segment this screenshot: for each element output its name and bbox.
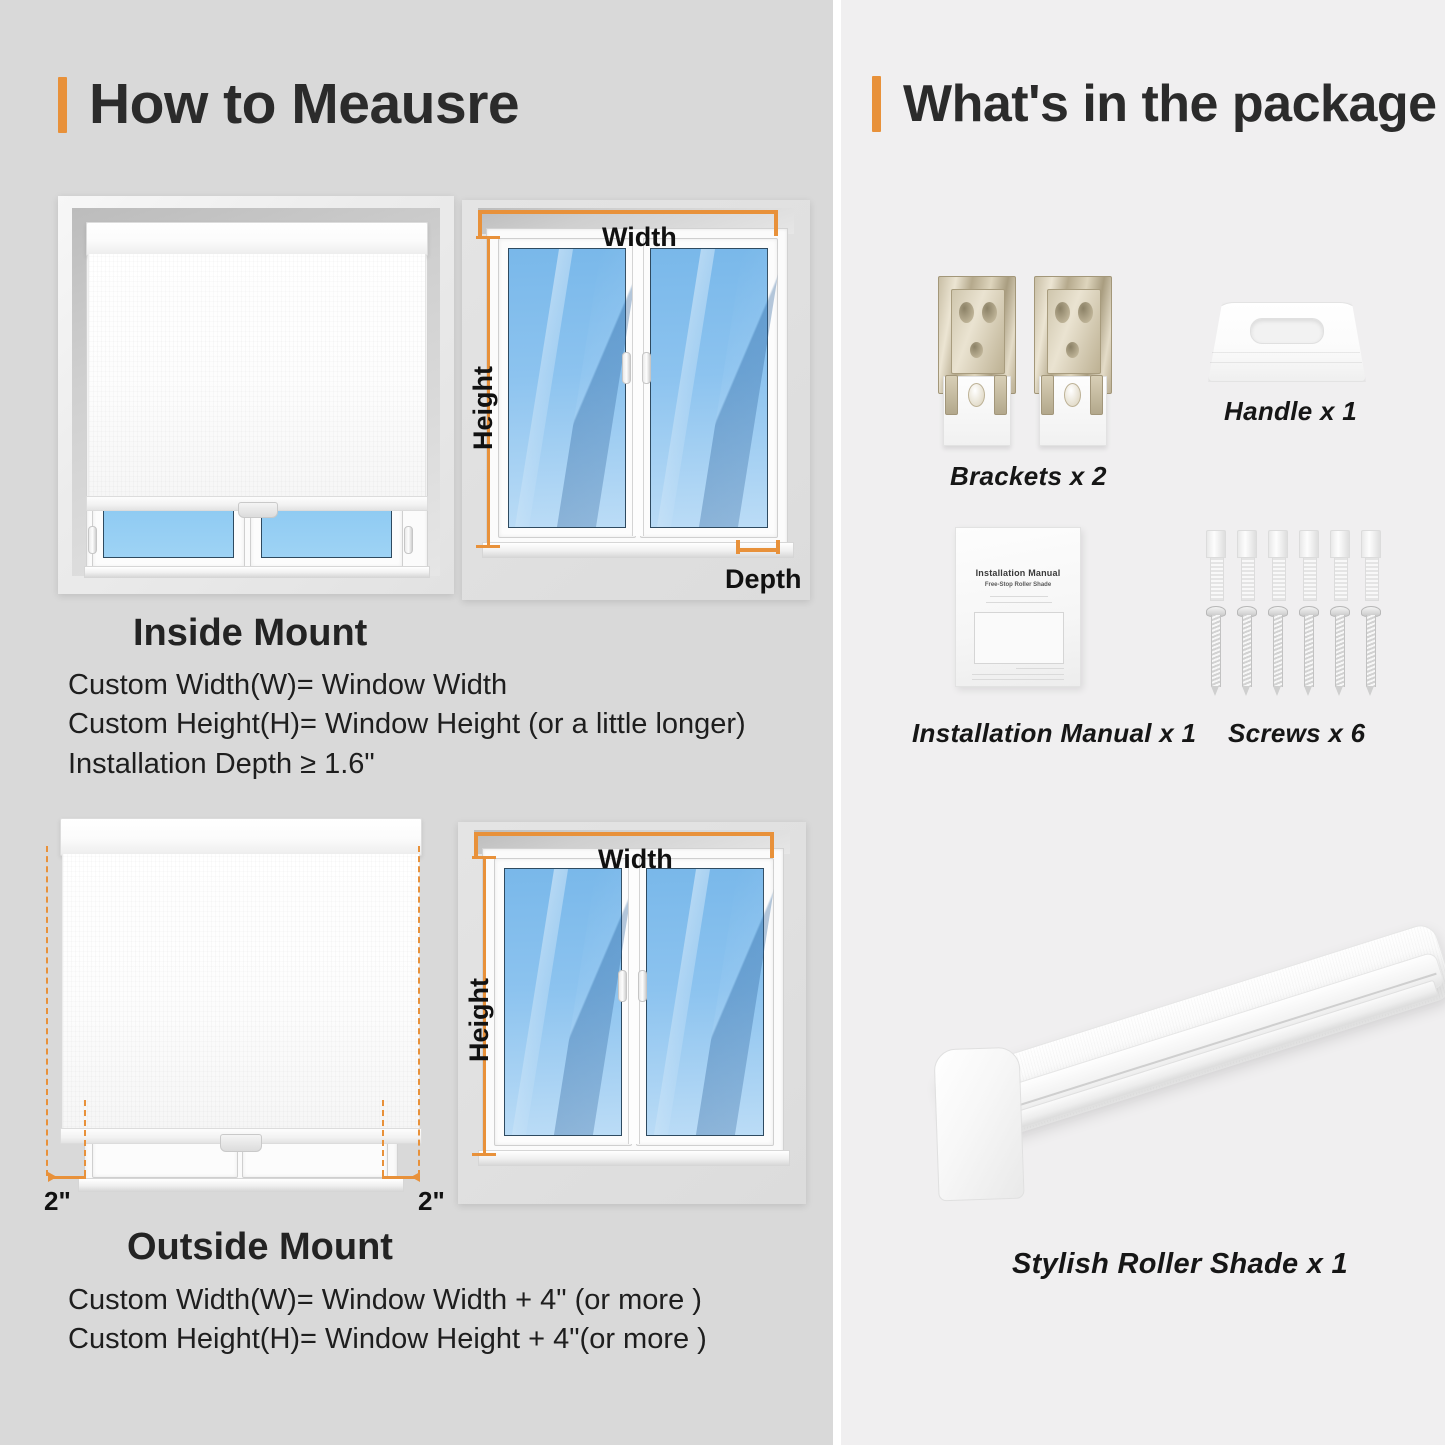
om-shade-fabric xyxy=(62,854,420,1132)
brackets-label: Brackets x 2 xyxy=(950,461,1107,492)
om-width-dimension-line xyxy=(474,832,774,836)
diagram-sash-left xyxy=(498,238,636,538)
inside-mount-spec-line: Installation Depth ≥ 1.6" xyxy=(68,747,746,782)
om-shade-valance xyxy=(60,818,422,856)
page-title-whats-in-package: What's in the package xyxy=(872,76,1437,132)
bracket-inner-plate xyxy=(1047,289,1101,374)
screw-tip xyxy=(1242,686,1250,696)
inside-mount-spec-line: Custom Height(H)= Window Height (or a li… xyxy=(68,707,746,742)
bracket-slot-left xyxy=(1041,375,1054,415)
screw-tip xyxy=(1211,686,1219,696)
overhang-arrow-right xyxy=(411,1172,420,1182)
diagram-sash-right xyxy=(640,238,778,538)
width-dimension-tick-left xyxy=(478,210,482,236)
screw-shaft xyxy=(1242,615,1252,687)
shade-valance xyxy=(86,222,428,256)
glass-reflection-icon xyxy=(696,869,778,1135)
manual-divider-line xyxy=(986,602,1052,603)
overhang-dash-left-outer xyxy=(46,846,48,1176)
manual-footer-line xyxy=(972,679,1064,680)
manual-footer-line xyxy=(972,674,1064,675)
om-diagram-mullion xyxy=(628,858,640,1144)
om-diagram-sill xyxy=(478,1150,790,1166)
glass-reflection-icon xyxy=(557,249,640,527)
manual-footer-line xyxy=(1016,668,1064,669)
overhang-dash-right-inner xyxy=(382,1100,384,1176)
bracket-hole-icon xyxy=(1078,302,1093,323)
screw-icon xyxy=(1361,606,1379,698)
window-handle-left-icon xyxy=(88,526,97,554)
om-diagram-sash-right xyxy=(636,858,774,1146)
depth-dimension-tick-a xyxy=(736,540,740,554)
om-diagram-glass-right xyxy=(646,868,764,1136)
bracket-hole-icon xyxy=(1055,302,1070,323)
window-sill xyxy=(84,566,430,578)
manual-divider-line xyxy=(990,596,1048,597)
overhang-dash-right-outer xyxy=(418,846,420,1176)
bracket-item-2-image xyxy=(1034,276,1110,446)
outside-mount-spec-list: Custom Width(W)= Window Width + 4" (or m… xyxy=(68,1283,707,1362)
inside-mount-shade-illustration xyxy=(58,196,454,594)
om-window-sill xyxy=(78,1178,404,1192)
screw-shaft xyxy=(1335,615,1345,687)
height-dimension-tick-top xyxy=(476,236,500,239)
bracket-inner-plate xyxy=(951,289,1005,374)
screw-icon xyxy=(1330,606,1348,698)
om-diagram-glass-left xyxy=(504,868,622,1136)
window-glass-left xyxy=(103,505,234,558)
wall-anchor-shaft xyxy=(1365,557,1379,601)
screw-tip xyxy=(1273,686,1281,696)
panel-divider xyxy=(833,0,841,1445)
depth-dimension-tick-b xyxy=(776,540,780,554)
bracket-hole-icon xyxy=(982,302,997,323)
shade-pull-handle xyxy=(238,502,278,518)
label-depth: Depth xyxy=(725,564,802,595)
bracket-slot-left xyxy=(945,375,958,415)
screw-tip xyxy=(1335,686,1343,696)
roller-shade-image xyxy=(900,880,1440,1220)
diagram-glass-left xyxy=(508,248,626,528)
outside-mount-spec-line: Custom Height(H)= Window Height + 4"(or … xyxy=(68,1322,707,1357)
label-height: Height xyxy=(468,366,499,450)
width-dimension-tick-right xyxy=(774,210,778,236)
width-dimension-line xyxy=(478,210,778,214)
overhang-arrow-left xyxy=(48,1172,57,1182)
accent-bar-icon xyxy=(58,77,67,133)
outside-mount-title: Outside Mount xyxy=(127,1226,393,1269)
wall-anchor-shaft xyxy=(1210,557,1224,601)
handle-ridge-line xyxy=(1210,362,1362,363)
bracket-item-1-image xyxy=(938,276,1014,446)
om-diagram-sash-left xyxy=(494,858,632,1146)
om-shade-pull-handle xyxy=(220,1134,262,1152)
diagram-handle-right-icon xyxy=(642,352,651,384)
screw-icon xyxy=(1237,606,1255,698)
handle-ridge-line xyxy=(1212,352,1360,353)
screw-tip xyxy=(1366,686,1374,696)
window-handle-right-icon xyxy=(404,526,413,554)
screw-icon xyxy=(1299,606,1317,698)
screw-tip xyxy=(1304,686,1312,696)
window-glass-right xyxy=(261,505,392,558)
screw-shaft xyxy=(1366,615,1376,687)
screws-label: Screws x 6 xyxy=(1228,718,1365,749)
bracket-hole-icon xyxy=(1066,342,1079,358)
wall-anchor-icon xyxy=(1299,530,1319,558)
bracket-slot-right xyxy=(1090,375,1103,415)
screw-icon xyxy=(1268,606,1286,698)
wall-anchor-icon xyxy=(1237,530,1257,558)
manual-cover-figure xyxy=(974,612,1064,664)
wall-anchor-icon xyxy=(1361,530,1381,558)
om-label-width: Width xyxy=(598,844,673,875)
om-width-dimension-tick-right xyxy=(770,832,774,858)
overhang-dash-left-inner xyxy=(84,1100,86,1176)
inside-mount-title: Inside Mount xyxy=(133,612,367,655)
om-width-dimension-tick-left xyxy=(474,832,478,858)
shade-fabric xyxy=(88,254,426,502)
wall-anchor-icon xyxy=(1330,530,1350,558)
label-width: Width xyxy=(602,222,677,253)
wall-anchor-shaft xyxy=(1241,557,1255,601)
heading-left-text: How to Meausre xyxy=(89,76,519,133)
om-label-height: Height xyxy=(464,978,495,1062)
heading-right-text: What's in the package xyxy=(903,78,1437,130)
screw-shaft xyxy=(1304,615,1314,687)
infographic-page: How to Meausre xyxy=(0,0,1445,1445)
page-title-how-to-measure: How to Meausre xyxy=(58,76,519,133)
wall-anchor-shaft xyxy=(1303,557,1317,601)
screw-shaft xyxy=(1211,615,1221,687)
overhang-label-right: 2" xyxy=(418,1186,445,1217)
inside-mount-measure-diagram: Width Height Depth xyxy=(462,200,810,600)
accent-bar-icon xyxy=(872,76,881,132)
screw-icon xyxy=(1206,606,1224,698)
diagram-glass-right xyxy=(650,248,768,528)
outside-mount-measure-diagram: Width Height xyxy=(458,822,806,1204)
wall-anchor-icon xyxy=(1268,530,1288,558)
roller-shade-end-cap xyxy=(933,1047,1024,1202)
om-diagram-handle-right-icon xyxy=(638,970,647,1002)
outside-mount-spec-line: Custom Width(W)= Window Width + 4" (or m… xyxy=(68,1283,707,1318)
overhang-label-left: 2" xyxy=(44,1186,71,1217)
handle-label: Handle x 1 xyxy=(1224,396,1357,427)
om-diagram-handle-left-icon xyxy=(618,970,627,1002)
screw-shaft xyxy=(1273,615,1283,687)
height-dimension-tick-bottom xyxy=(476,545,500,548)
bracket-hole-icon xyxy=(970,342,983,358)
wall-anchor-shaft xyxy=(1334,557,1348,601)
roller-shade-label: Stylish Roller Shade x 1 xyxy=(1012,1248,1348,1281)
wall-anchor-icon xyxy=(1206,530,1226,558)
om-height-dimension-tick-bottom xyxy=(472,1153,496,1156)
manual-cover-subtitle: Free-Stop Roller Shade xyxy=(956,582,1080,588)
diagram-handle-left-icon xyxy=(622,352,631,384)
wall-anchor-shaft xyxy=(1272,557,1286,601)
bracket-hole-icon xyxy=(959,302,974,323)
installation-manual-label: Installation Manual x 1 xyxy=(912,718,1196,749)
inside-mount-spec-line: Custom Width(W)= Window Width xyxy=(68,668,746,703)
diagram-mullion xyxy=(632,238,644,536)
glass-reflection-icon xyxy=(554,869,636,1135)
bracket-slot-right xyxy=(994,375,1007,415)
installation-manual-image: Installation Manual Free-Stop Roller Sha… xyxy=(955,527,1081,687)
handle-grip-slot xyxy=(1250,318,1324,344)
manual-cover-title: Installation Manual xyxy=(956,568,1080,578)
om-height-dimension-tick-top xyxy=(472,856,496,859)
depth-dimension-line xyxy=(736,548,780,552)
inside-mount-spec-list: Custom Width(W)= Window Width Custom Hei… xyxy=(68,668,746,786)
glass-reflection-icon xyxy=(699,249,782,527)
